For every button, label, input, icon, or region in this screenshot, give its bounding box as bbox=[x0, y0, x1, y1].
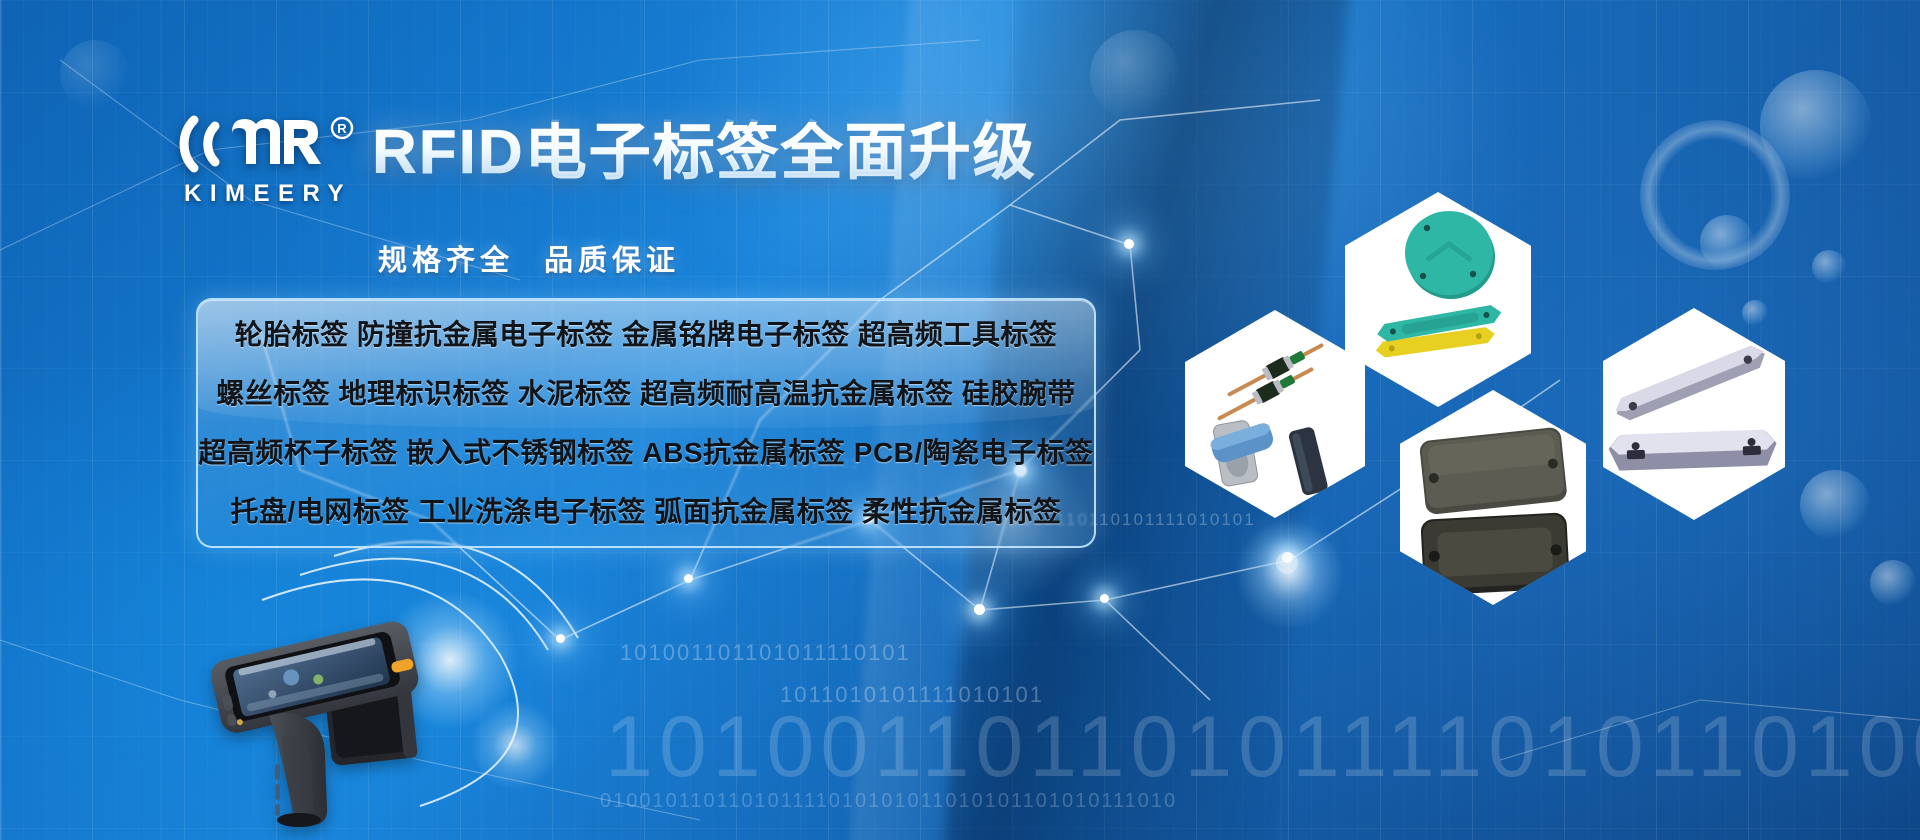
handheld-rfid-reader bbox=[195, 612, 465, 827]
glow-node bbox=[1124, 239, 1134, 249]
bokeh-circle bbox=[1090, 30, 1180, 120]
product-row: 超高频杯子标签 嵌入式不锈钢标签 ABS抗金属标签 PCB/陶瓷电子标签 bbox=[198, 423, 1094, 482]
handheld-reader-graphic bbox=[195, 612, 465, 827]
product-row: 螺丝标签 地理标识标签 水泥标签 超高频耐高温抗金属标签 硅胶腕带 bbox=[198, 364, 1094, 423]
binary-text: 0100101101101011110101010110101011010101… bbox=[600, 790, 1177, 813]
bokeh-circle bbox=[1812, 250, 1846, 284]
brand-logo[interactable]: R KIMEERY bbox=[170, 112, 360, 208]
glow-node bbox=[1100, 594, 1109, 603]
glow-node bbox=[556, 634, 565, 643]
brand-name: KIMEERY bbox=[170, 180, 360, 208]
bokeh-ring bbox=[1640, 120, 1790, 270]
binary-text: 101001101101011110101 bbox=[620, 640, 911, 666]
glow-node bbox=[684, 574, 693, 583]
subtitle-part-2: 品质保证 bbox=[544, 245, 680, 277]
rfid-promo-banner: 0100110110101111010101 10100110110101111… bbox=[0, 0, 1920, 840]
kimeery-wave-logo-icon: R bbox=[170, 112, 360, 176]
product-row: 轮胎标签 防撞抗金属电子标签 金属铭牌电子标签 超高频工具标签 bbox=[198, 305, 1094, 364]
product-list-panel: 轮胎标签 防撞抗金属电子标签 金属铭牌电子标签 超高频工具标签 螺丝标签 地理标… bbox=[196, 298, 1096, 548]
subtitle-part-1: 规格齐全 bbox=[378, 245, 514, 277]
bokeh-circle bbox=[1742, 300, 1768, 326]
svg-text:R: R bbox=[337, 121, 347, 136]
bokeh-circle bbox=[1800, 470, 1870, 540]
product-row: 托盘/电网标签 工业洗涤电子标签 弧面抗金属标签 柔性抗金属标签 bbox=[198, 482, 1094, 541]
glow-node bbox=[1276, 552, 1298, 574]
bokeh-circle bbox=[1870, 560, 1916, 606]
binary-text-large: 1010011011010111101011010011011010111101… bbox=[605, 698, 1920, 797]
bokeh-circle bbox=[60, 40, 130, 110]
page-title: RFID电子标签全面升级 bbox=[372, 122, 1037, 184]
glow-node bbox=[974, 604, 985, 615]
subtitle: 规格齐全品质保证 bbox=[378, 237, 710, 279]
